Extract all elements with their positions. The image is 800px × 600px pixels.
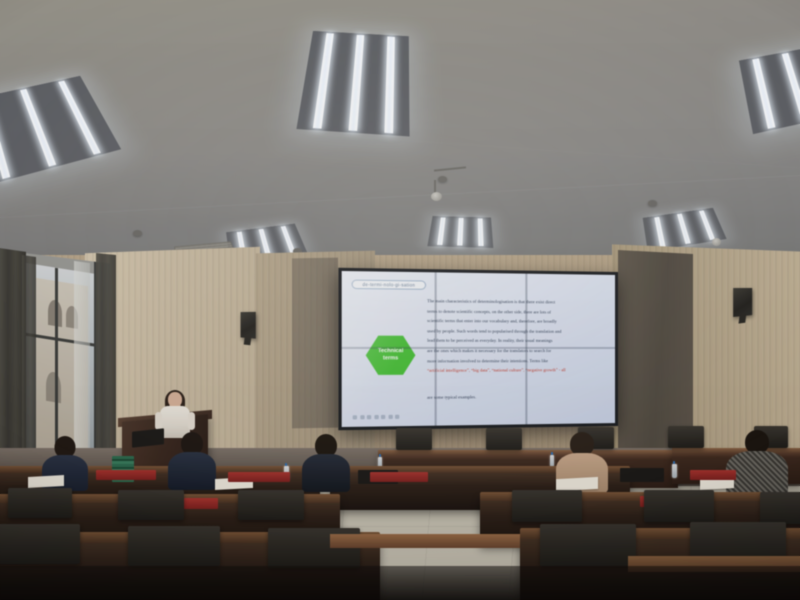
cursor-icon[interactable] [353, 415, 357, 419]
attendee-torso [168, 452, 216, 490]
light-tube [21, 89, 57, 167]
smoke-detector-icon [133, 230, 142, 236]
seat-cushion [690, 470, 736, 480]
conference-chair [668, 426, 704, 448]
attendee-row1-far-right [726, 430, 788, 492]
handout-paper [556, 477, 598, 491]
bench-seat-back [540, 524, 636, 566]
bezel-seam-vertical [525, 274, 527, 425]
light-tube [458, 218, 464, 246]
bench-seat-back [0, 524, 80, 564]
slide-highlight-line: “artificial intelligence”, “big data”, “… [427, 365, 602, 376]
speaker-icon [241, 312, 256, 339]
slide-tail-line: are some typical examples. [427, 393, 592, 400]
handout-paper [28, 475, 64, 488]
screen-surface: de-termi-nolo-gi-sation Technical terms … [342, 271, 615, 427]
water-bottle [672, 464, 677, 478]
light-tube [385, 37, 395, 134]
window-drape-right [96, 253, 116, 465]
menu-icon[interactable] [395, 415, 399, 419]
light-tube [437, 218, 445, 245]
fluorescent-troffer-center [296, 31, 409, 137]
eraser-icon[interactable] [374, 415, 378, 419]
attendee-torso [302, 454, 350, 492]
light-tube [677, 214, 691, 244]
laptop [132, 428, 164, 447]
slide-body-text: The main characteristics of determinolog… [427, 296, 602, 376]
presenter-arm-right [188, 412, 195, 430]
foreground-shadow [0, 566, 800, 600]
window-sheer-curtain [74, 261, 90, 463]
conference-chair [486, 428, 522, 450]
ceiling-camera-icon [712, 238, 721, 246]
bench-seat-back [512, 490, 582, 522]
fluorescent-troffer-mid-center [427, 216, 493, 248]
bench-seat-back [238, 490, 304, 520]
slide-text-line: used by people. Such words tend to popul… [427, 326, 602, 336]
speaker-bracket [244, 336, 252, 345]
ceiling-camera-icon [431, 192, 442, 201]
bench-seat-back [8, 488, 72, 518]
technical-terms-badge: Technical terms [366, 334, 416, 376]
bench-seat-back [760, 492, 800, 524]
light-tube [654, 217, 665, 248]
light-tube [312, 33, 333, 128]
bezel-seam-vertical [435, 272, 437, 425]
badge-line-2: terms [383, 355, 398, 362]
speaker-bracket [739, 314, 747, 324]
seat-cushion [96, 470, 156, 480]
slide-icon[interactable] [388, 415, 392, 419]
smoke-detector-icon [648, 200, 657, 206]
presenter-head [168, 392, 182, 407]
desk-top-edge [378, 450, 678, 455]
attendee-row1-center [302, 434, 350, 490]
light-tube [0, 97, 10, 179]
highlighter-icon[interactable] [367, 415, 371, 419]
attendee-row1-center-left [168, 432, 216, 488]
badge-line-1: Technical [378, 348, 403, 355]
laser-icon[interactable] [381, 415, 385, 419]
bezel-seam-horizontal [342, 347, 615, 349]
speaker-icon [733, 288, 752, 317]
conference-chair [396, 428, 432, 450]
slide-text-line: more information involved to determine t… [427, 356, 602, 366]
light-tube [478, 218, 484, 246]
bench-seat-back [644, 490, 714, 522]
bench-seat-back [118, 490, 184, 520]
smoke-detector-icon [438, 176, 447, 182]
light-tube [753, 58, 776, 128]
slide-text-line: lead them to be perceived as everyday. I… [427, 336, 602, 346]
lecture-hall-photo: de-termi-nolo-gi-sation Technical terms … [0, 0, 800, 600]
light-tube [348, 35, 364, 131]
wall-curtain-left [292, 258, 338, 429]
video-wall-display[interactable]: de-termi-nolo-gi-sation Technical terms … [338, 268, 618, 430]
light-tube [699, 210, 715, 240]
seat-cushion [228, 472, 290, 482]
presenter-arm-left [155, 412, 162, 430]
seat-cushion [370, 472, 428, 482]
bench-desk-top [330, 534, 520, 548]
laptop [620, 468, 664, 482]
slide-section-pill: de-termi-nolo-gi-sation [352, 280, 426, 290]
wall-curtain-right [618, 250, 693, 454]
bench-seat-back [128, 526, 220, 566]
light-tube [782, 53, 800, 122]
slide-toolbar[interactable] [353, 415, 400, 420]
slide-text-line: scientific terms that enter into our voc… [427, 316, 602, 327]
pen-icon[interactable] [360, 415, 364, 419]
